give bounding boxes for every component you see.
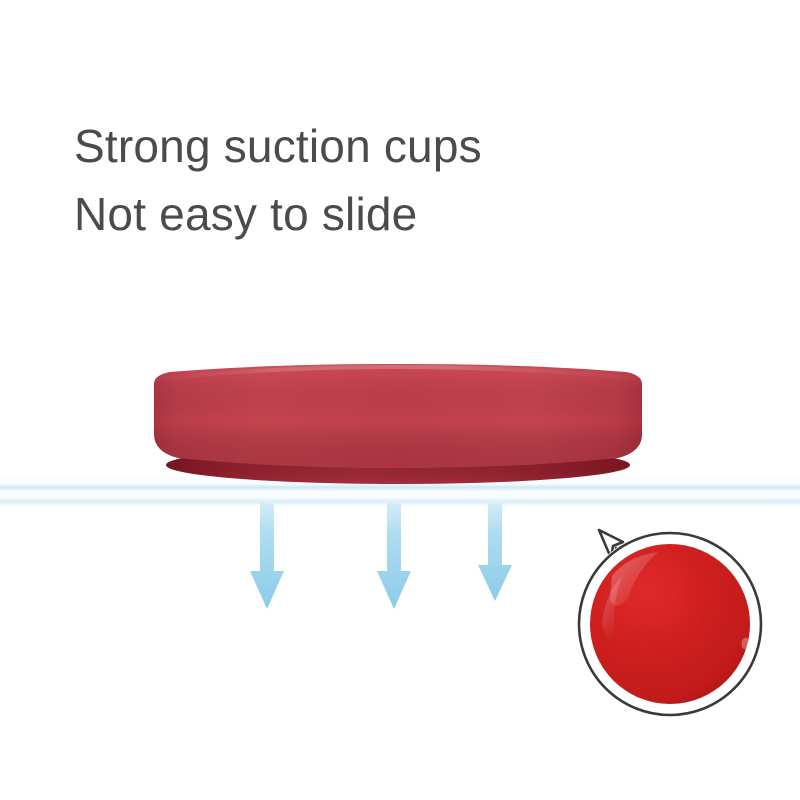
headline-line-1: Strong suction cups: [74, 112, 694, 180]
product-feature-image: Strong suction cups Not easy to slide: [0, 0, 800, 800]
headline-line-2: Not easy to slide: [74, 180, 694, 248]
magnified-suction-cup-detail: [566, 472, 776, 724]
headline-block: Strong suction cups Not easy to slide: [74, 112, 694, 248]
pressure-arrow-3: [477, 503, 513, 603]
pressure-arrow-2: [376, 503, 412, 611]
bowl-body: [154, 364, 642, 468]
pressure-arrow-1: [249, 503, 285, 611]
